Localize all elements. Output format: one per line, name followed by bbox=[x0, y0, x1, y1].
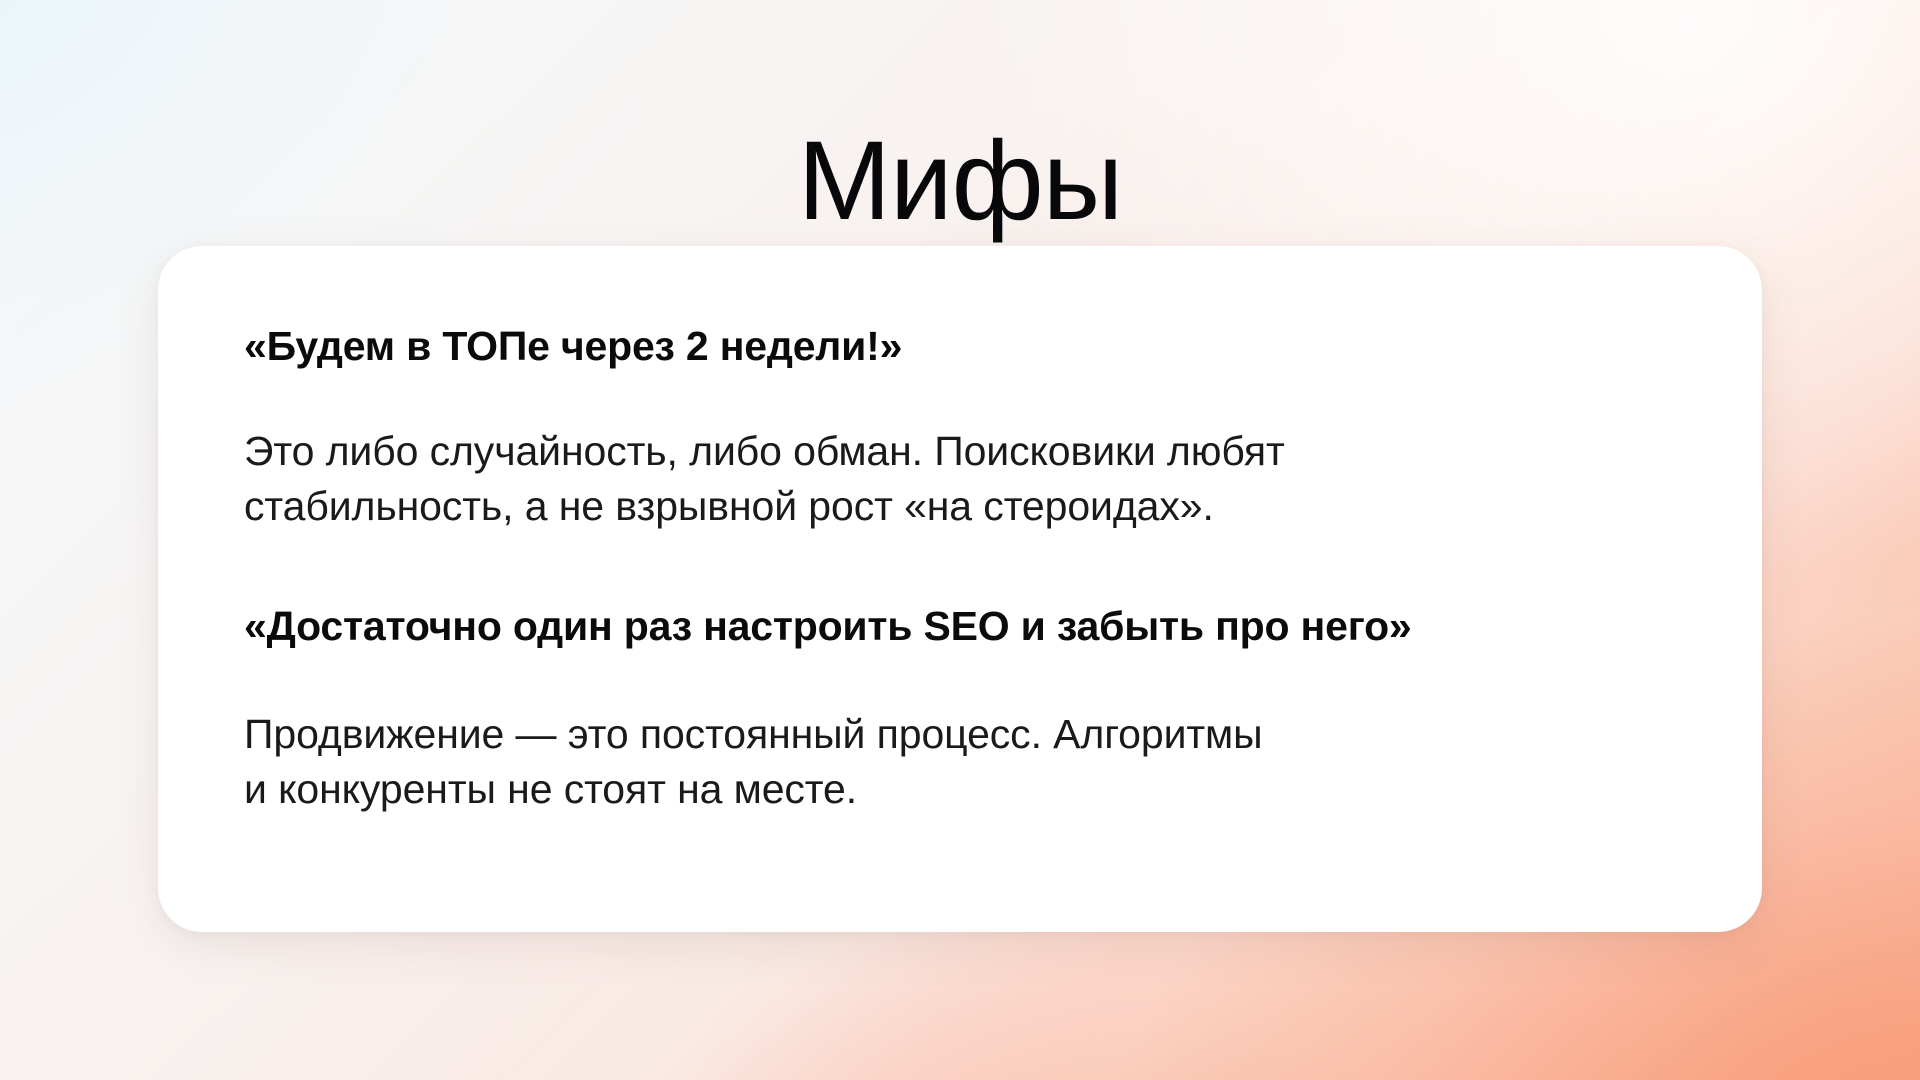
myth-heading-1: «Будем в ТОПе через 2 недели!» bbox=[244, 320, 1672, 372]
spacer-text-1-to-heading-2 bbox=[244, 534, 1672, 600]
page-title: Мифы bbox=[0, 115, 1920, 247]
spacer-heading-1-to-text-1 bbox=[244, 372, 1672, 424]
slide-root: Мифы «Будем в ТОПе через 2 недели!» Это … bbox=[0, 0, 1920, 1080]
myth-text-2-line-1: Продвижение — это постоянный процесс. Ал… bbox=[244, 707, 1672, 762]
myth-text-1-line-1: Это либо случайность, либо обман. Поиско… bbox=[244, 424, 1672, 479]
myth-text-2-line-2: и конкуренты не стоят на месте. bbox=[244, 762, 1672, 817]
myths-card-body: «Будем в ТОПе через 2 недели!» Это либо … bbox=[244, 320, 1672, 817]
myth-text-2: Продвижение — это постоянный процесс. Ал… bbox=[244, 707, 1672, 817]
myth-text-1: Это либо случайность, либо обман. Поиско… bbox=[244, 424, 1672, 534]
spacer-heading-2-to-text-2 bbox=[244, 653, 1672, 707]
myth-heading-2: «Достаточно один раз настроить SEO и заб… bbox=[244, 600, 1672, 652]
myth-text-1-line-2: стабильность, а не взрывной рост «на сте… bbox=[244, 479, 1672, 534]
myths-card: «Будем в ТОПе через 2 недели!» Это либо … bbox=[158, 246, 1762, 932]
